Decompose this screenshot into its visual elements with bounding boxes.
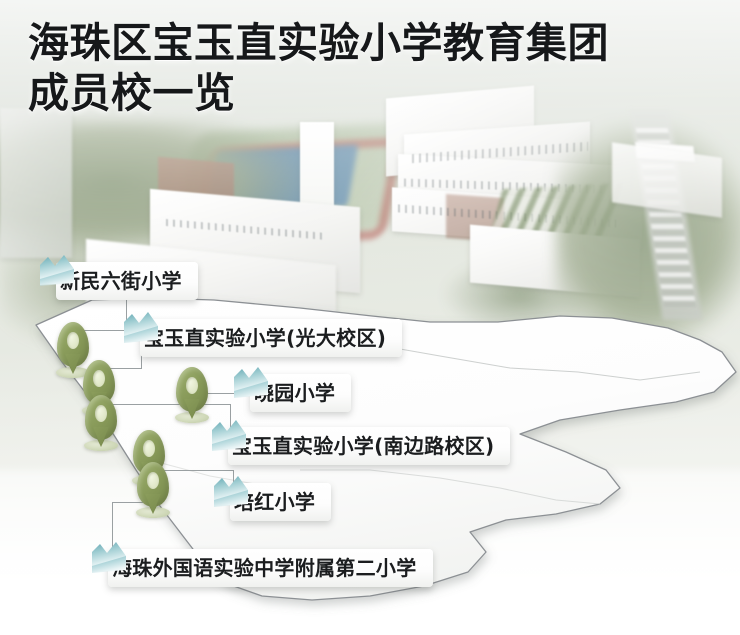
- map-pin-hole: [186, 377, 198, 394]
- school-label-text: 海珠外国语实验中学附属第二小学: [112, 558, 417, 578]
- school-label-4[interactable]: 宝玉直实验小学(南边路校区): [228, 427, 510, 465]
- map-pin-hole: [95, 405, 107, 422]
- infographic-canvas: 海珠区宝玉直实验小学教育集团 成员校一览: [0, 0, 740, 635]
- school-label-5[interactable]: 培红小学: [230, 483, 331, 521]
- connector-line-school-1-vertical: [126, 300, 127, 330]
- school-label-text: 培红小学: [234, 492, 315, 512]
- school-label-1[interactable]: 新民六街小学: [56, 262, 198, 300]
- school-label-text: 新民六街小学: [60, 271, 182, 291]
- school-label-6[interactable]: 海珠外国语实验中学附属第二小学: [108, 549, 433, 587]
- school-label-text: 晓园小学: [254, 383, 335, 403]
- school-label-2[interactable]: 宝玉直实验小学(光大校区): [140, 319, 402, 357]
- map-pin-hole: [93, 370, 105, 387]
- map-pin-hole: [147, 472, 159, 489]
- map-pin-school-6[interactable]: [133, 462, 173, 518]
- map-pin-school-3[interactable]: [172, 367, 212, 423]
- map-pin-school-4[interactable]: [81, 395, 121, 451]
- school-label-text: 宝玉直实验小学(南边路校区): [232, 436, 494, 456]
- school-label-text: 宝玉直实验小学(光大校区): [144, 328, 386, 348]
- map-pin-hole: [67, 332, 79, 349]
- school-label-3[interactable]: 晓园小学: [250, 374, 351, 412]
- map-pin-hole: [143, 440, 155, 457]
- page-title: 海珠区宝玉直实验小学教育集团 成员校一览: [28, 18, 718, 118]
